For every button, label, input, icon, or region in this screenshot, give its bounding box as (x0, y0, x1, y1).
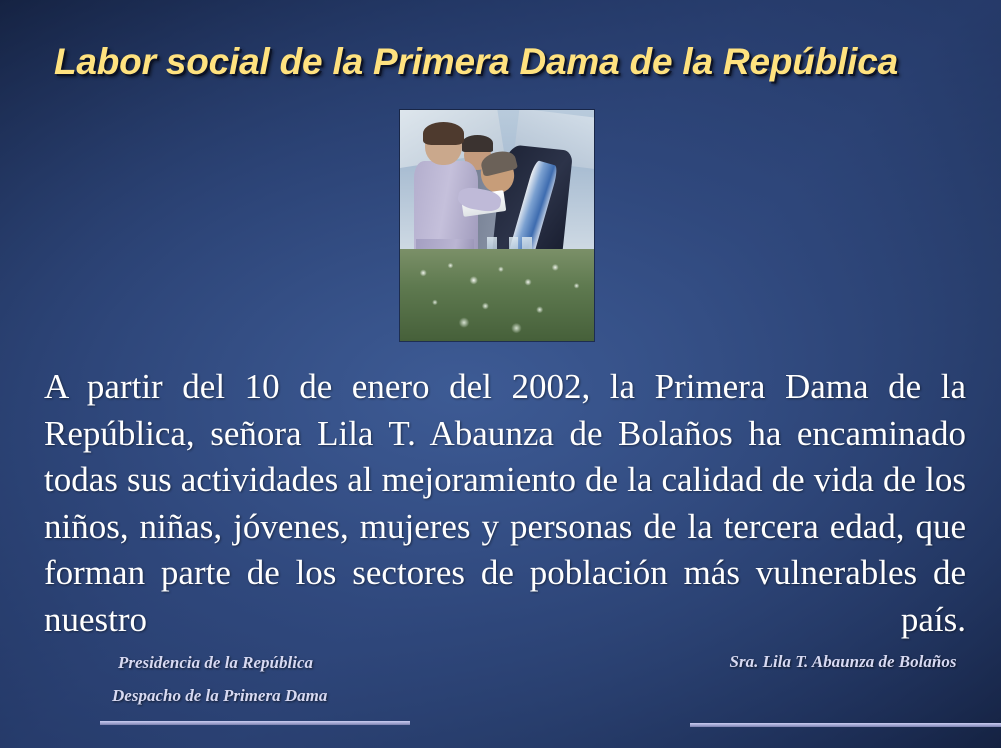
footer-left-divider (100, 721, 410, 725)
footer-left-line1: Presidencia de la República (118, 653, 313, 673)
page-title: Labor social de la Primera Dama de la Re… (54, 41, 954, 83)
photo-first-lady-hair (423, 122, 464, 145)
presentation-slide: Labor social de la Primera Dama de la Re… (0, 0, 1001, 748)
footer-left: Presidencia de la República Despacho de … (18, 648, 438, 740)
footer-left-line2: Despacho de la Primera Dama (112, 686, 327, 706)
photo-flower-bed (400, 249, 594, 341)
photo-attendant-hair (462, 135, 493, 151)
ceremony-photograph (400, 110, 594, 341)
footer-right-name: Sra. Lila T. Abaunza de Bolaños (693, 650, 993, 673)
footer-right-divider (690, 723, 1001, 727)
slide-body-paragraph: A partir del 10 de enero del 2002, la Pr… (44, 364, 966, 690)
